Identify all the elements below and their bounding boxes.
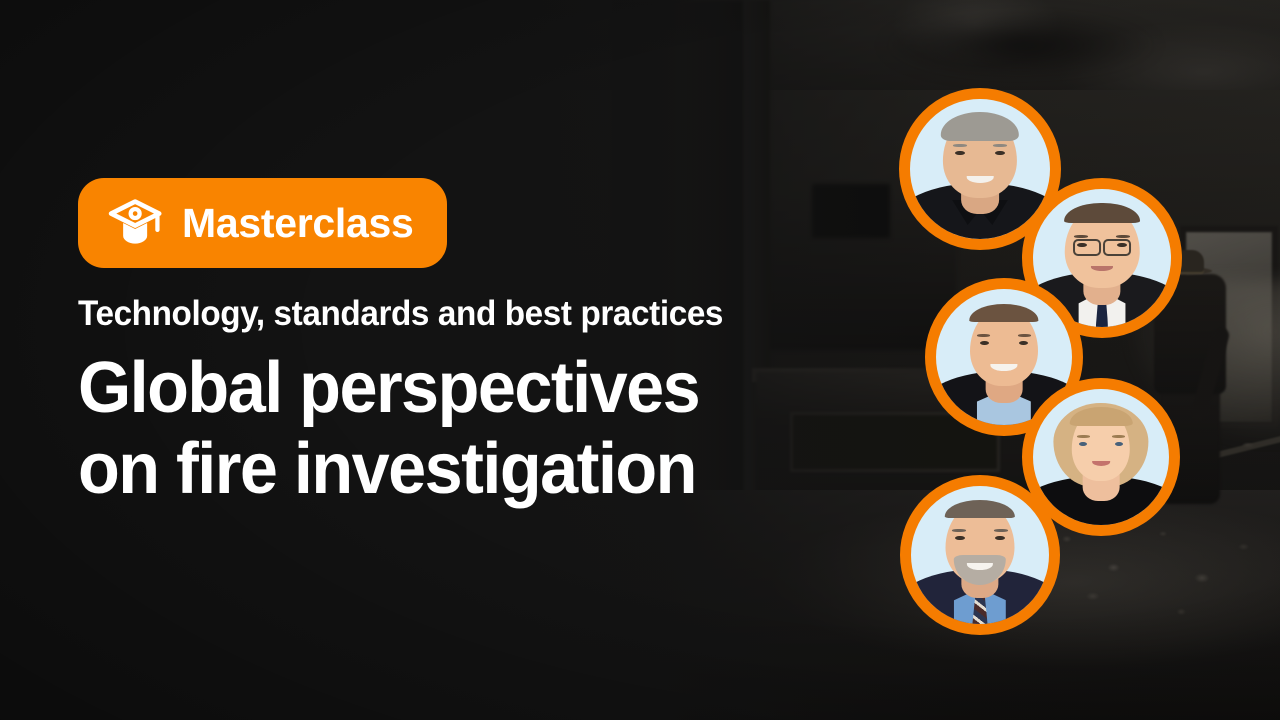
banner-headline: Global perspectives on fire investigatio… bbox=[78, 348, 838, 509]
headline-line-2: on fire investigation bbox=[78, 429, 838, 510]
masterclass-badge[interactable]: Masterclass bbox=[78, 178, 447, 268]
speaker-avatar-5-photo bbox=[911, 486, 1049, 624]
masterclass-promo-banner: Masterclass Technology, standards and be… bbox=[0, 0, 1280, 720]
banner-kicker-text: Technology, standards and best practices bbox=[78, 294, 838, 334]
masterclass-badge-label: Masterclass bbox=[182, 203, 413, 244]
speaker-avatar-1-photo bbox=[910, 99, 1050, 239]
headline-line-1: Global perspectives bbox=[78, 348, 838, 429]
graduation-cap-icon bbox=[108, 199, 164, 247]
speaker-avatar-5[interactable] bbox=[900, 475, 1060, 635]
speaker-avatar-4-photo bbox=[1033, 389, 1169, 525]
banner-content: Masterclass Technology, standards and be… bbox=[78, 178, 878, 510]
